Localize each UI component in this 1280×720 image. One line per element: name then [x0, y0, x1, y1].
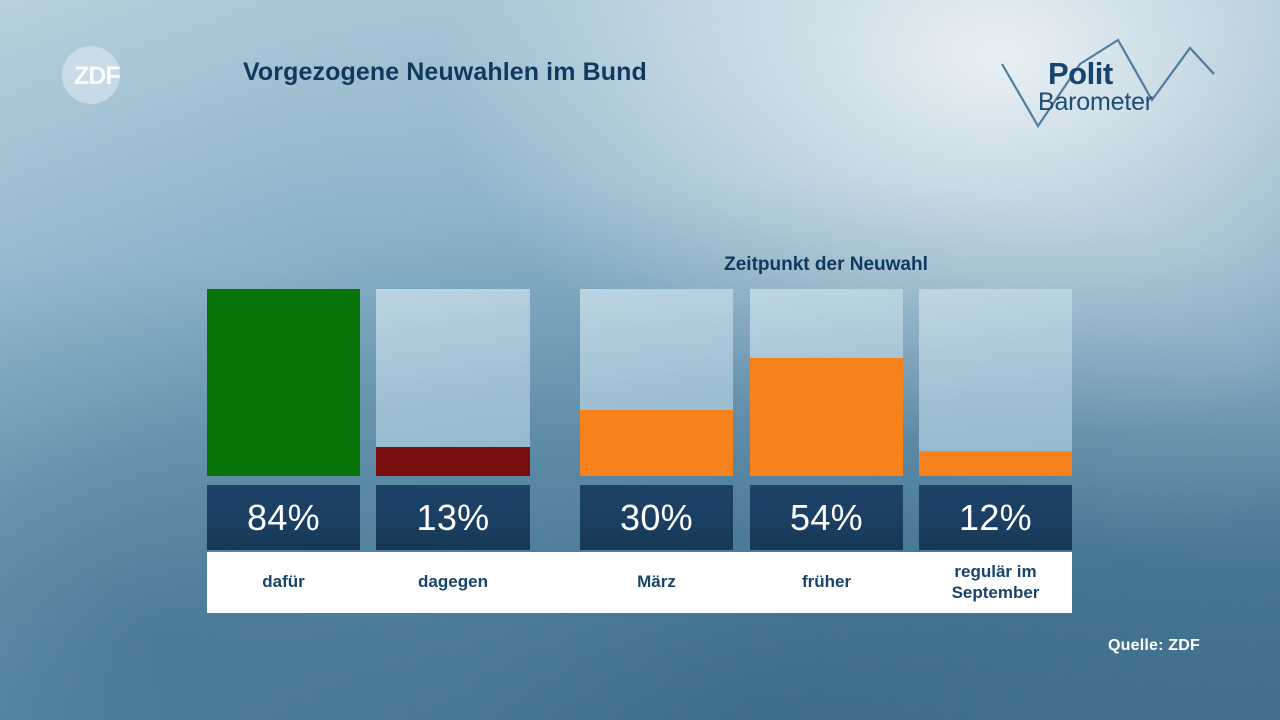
label-text-line2: September — [952, 583, 1040, 603]
value-label: 30% — [620, 497, 693, 539]
bar-track — [207, 289, 360, 476]
bar-fill-darkred — [376, 447, 530, 476]
value-box: 54% — [750, 485, 903, 550]
bar-track — [580, 289, 733, 476]
bar-fill-orange — [750, 358, 903, 476]
category-label-regulaer-september: regulär im September — [919, 552, 1072, 613]
bar-chart: Zeitpunkt der Neuwahl 84% 13% 30% 54 — [0, 0, 1280, 720]
category-label-dagegen: dagegen — [376, 552, 530, 613]
value-box: 30% — [580, 485, 733, 550]
value-label: 54% — [790, 497, 863, 539]
bar-fill-orange — [580, 410, 733, 476]
value-label: 84% — [247, 497, 320, 539]
label-text: dagegen — [418, 572, 488, 592]
value-label: 13% — [417, 497, 490, 539]
category-label-frueher: früher — [750, 552, 903, 613]
chart-subtitle: Zeitpunkt der Neuwahl — [580, 254, 1072, 276]
value-label: 12% — [959, 497, 1032, 539]
category-label-maerz: März — [580, 552, 733, 613]
value-box: 13% — [376, 485, 530, 550]
bar-fill-orange — [919, 451, 1072, 476]
label-text: März — [637, 572, 676, 592]
bar-fill-green — [207, 289, 360, 476]
bar-track — [919, 289, 1072, 476]
category-label-dafuer: dafür — [207, 552, 360, 613]
bar-track — [750, 289, 903, 476]
label-text-line1: regulär im — [954, 562, 1036, 582]
value-box: 84% — [207, 485, 360, 550]
label-text: dafür — [262, 572, 305, 592]
bar-track — [376, 289, 530, 476]
source-note: Quelle: ZDF — [1108, 637, 1200, 655]
value-box: 12% — [919, 485, 1072, 550]
label-text: früher — [802, 572, 851, 592]
category-label-strip: dafür dagegen März früher regulär im Sep… — [207, 552, 1072, 613]
